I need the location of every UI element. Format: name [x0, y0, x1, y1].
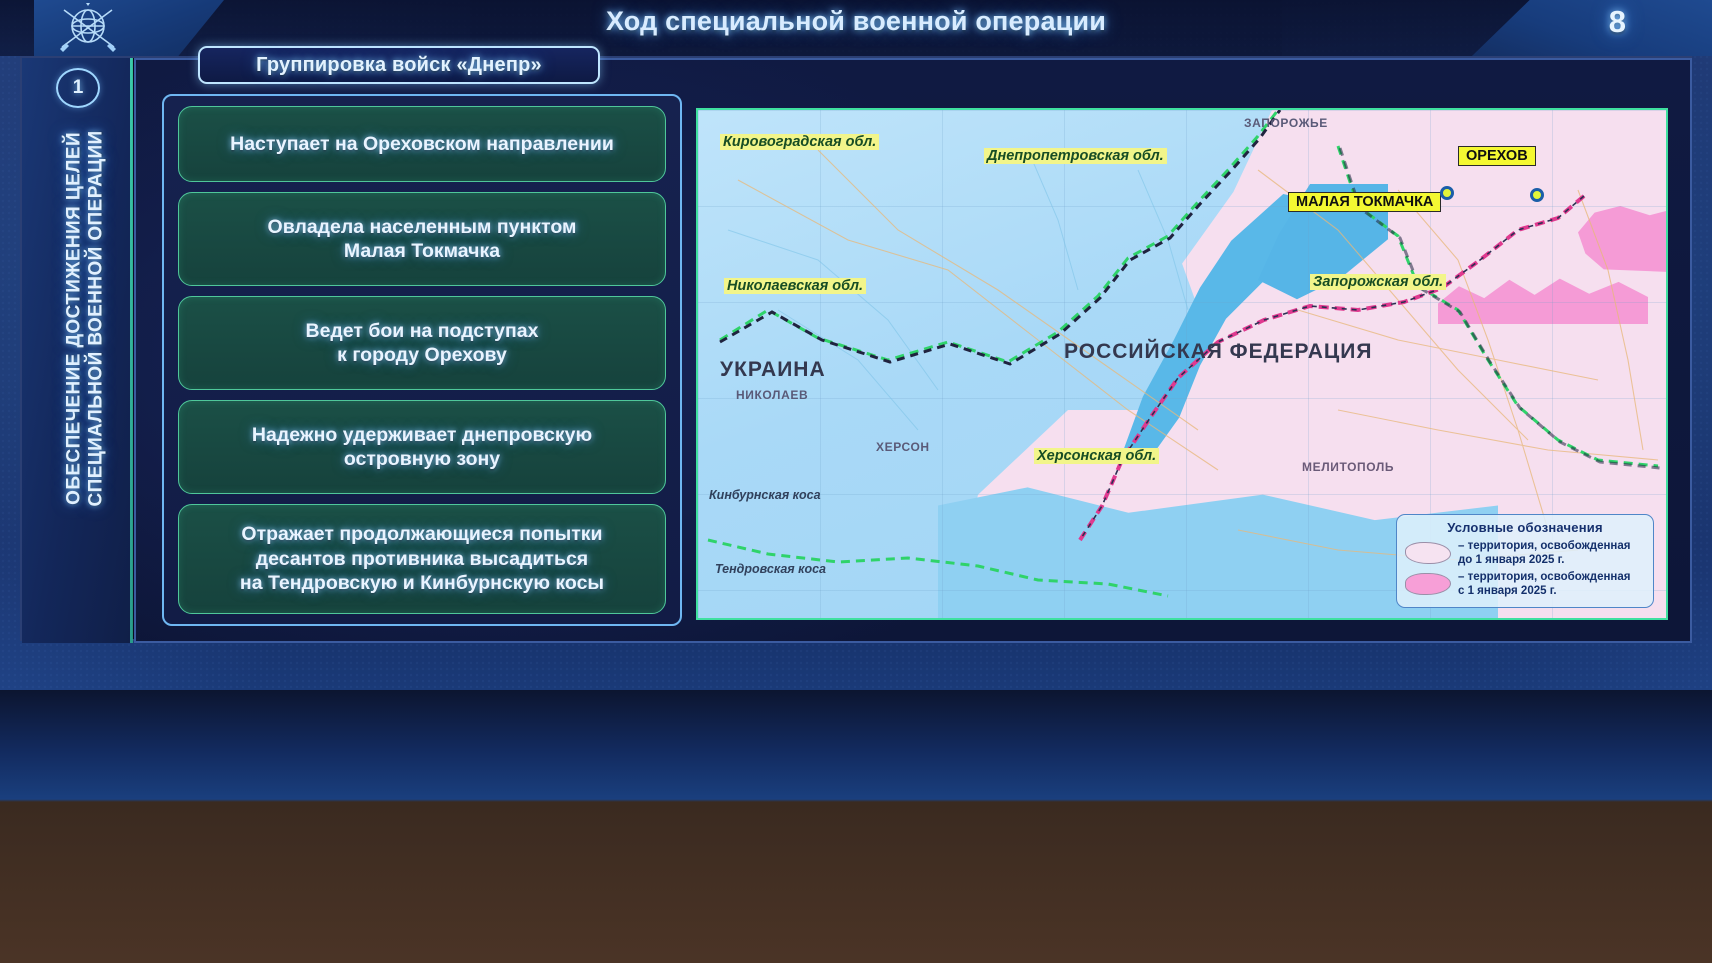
operations-map: Кировоградская обл. Днепропетровская обл… [696, 108, 1668, 620]
legend-item-text: – территория, освобожденнаяс 1 января 20… [1458, 570, 1630, 598]
bullet-text: Наступает на Ореховском направлении [230, 132, 614, 156]
group-title-label: Группировка войск «Днепр» [256, 54, 542, 77]
map-label-tendra-spit: Тендровская коса [712, 562, 829, 576]
legend-swatch-liberated-after-icon [1405, 573, 1451, 595]
legend-item-text: – территория, освобожденнаядо 1 января 2… [1458, 539, 1630, 567]
legend-title: Условные обозначения [1405, 520, 1645, 535]
group-title-tab: Группировка войск «Днепр» [198, 46, 600, 84]
conference-hall [0, 690, 1712, 963]
map-label-dnipropetrovsk: Днепропетровская обл. [984, 148, 1167, 164]
legend-item: – территория, освобожденнаяс 1 января 20… [1405, 570, 1645, 598]
map-callout-orekhov: ОРЕХОВ [1458, 146, 1536, 166]
bullet-text: Ведет бои на подступахк городу Орехову [305, 319, 538, 368]
list-item: Отражает продолжающиеся попыткидесантов … [178, 504, 666, 614]
section-vertical-title: ОБЕСПЕЧЕНИЕ ДОСТИЖЕНИЯ ЦЕЛЕЙ СПЕЦИАЛЬНОЙ… [64, 78, 109, 558]
bullet-list: Наступает на Ореховском направлении Овла… [162, 94, 682, 626]
map-city-mykolaiv: НИКОЛАЕВ [736, 388, 808, 402]
map-legend: Условные обозначения – территория, освоб… [1396, 514, 1654, 608]
map-label-zaporizhzhia: Запорожская обл. [1310, 274, 1446, 290]
page-title: Ход специальной военной операции [0, 6, 1712, 37]
map-country-russia: РОССИЙСКАЯ ФЕДЕРАЦИЯ [1064, 340, 1372, 364]
map-city-zaporizhzhia: ЗАПОРОЖЬЕ [1244, 116, 1328, 130]
map-country-ukraine: УКРАИНА [720, 358, 826, 382]
map-marker-malaya-tokmachka [1440, 186, 1454, 200]
section-vertical-title-line1: ОБЕСПЕЧЕНИЕ ДОСТИЖЕНИЯ ЦЕЛЕЙ [64, 78, 86, 558]
list-item: Ведет бои на подступахк городу Орехову [178, 296, 666, 390]
map-city-kherson: ХЕРСОН [876, 440, 930, 454]
slide-screenshot: Ход специальной военной операции 8 1 ОБЕ… [0, 0, 1712, 963]
map-label-kherson: Херсонская обл. [1034, 448, 1159, 464]
ribbon-green-edge [130, 58, 133, 643]
list-item: Наступает на Ореховском направлении [178, 106, 666, 182]
map-city-melitopol: МЕЛИТОПОЛЬ [1302, 460, 1394, 474]
section-ribbon: 1 ОБЕСПЕЧЕНИЕ ДОСТИЖЕНИЯ ЦЕЛЕЙ СПЕЦИАЛЬН… [22, 58, 132, 643]
slide-content: Группировка войск «Днепр» Наступает на О… [134, 58, 1692, 643]
map-label-kirovograd: Кировоградская обл. [720, 134, 879, 150]
map-marker-orekhov [1530, 188, 1544, 202]
map-callout-malaya-tokmachka: МАЛАЯ ТОКМАЧКА [1288, 192, 1441, 212]
list-item: Овладела населенным пунктомМалая Токмачк… [178, 192, 666, 286]
bullet-text: Овладела населенным пунктомМалая Токмачк… [268, 215, 577, 264]
page-number: 8 [1609, 4, 1626, 40]
section-vertical-title-line2: СПЕЦИАЛЬНОЙ ВОЕННОЙ ОПЕРАЦИИ [86, 78, 108, 558]
map-label-kinburn-spit: Кинбурнская коса [706, 488, 824, 502]
bullet-text: Отражает продолжающиеся попыткидесантов … [240, 522, 604, 595]
bullet-text: Надежно удерживает днепровскуюостровную … [252, 423, 592, 472]
list-item: Надежно удерживает днепровскуюостровную … [178, 400, 666, 494]
legend-swatch-liberated-before-icon [1405, 542, 1451, 564]
map-label-mykolaiv: Николаевская обл. [724, 278, 866, 294]
legend-item: – территория, освобожденнаядо 1 января 2… [1405, 539, 1645, 567]
slide-panel: 1 ОБЕСПЕЧЕНИЕ ДОСТИЖЕНИЯ ЦЕЛЕЙ СПЕЦИАЛЬН… [20, 56, 1692, 641]
